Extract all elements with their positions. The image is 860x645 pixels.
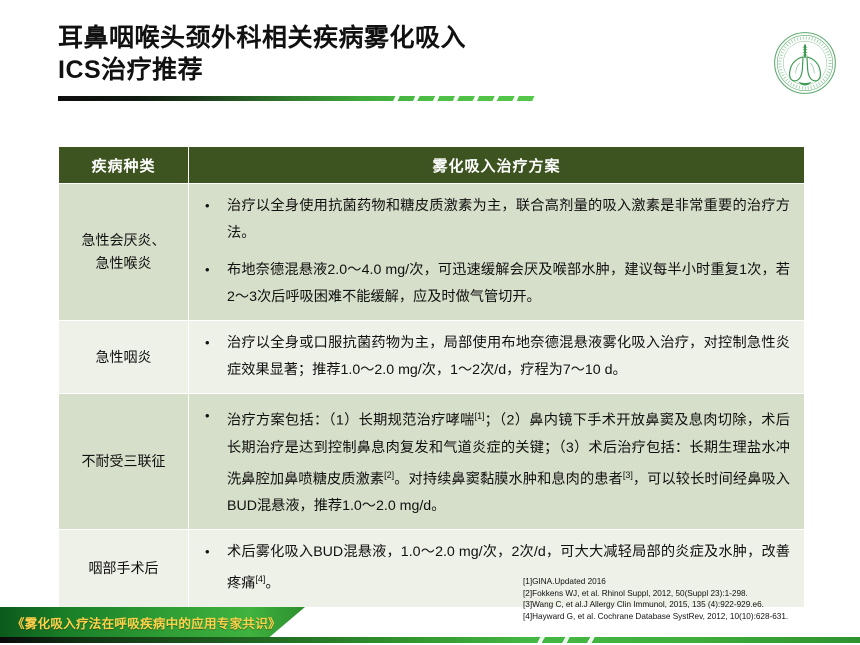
bullet-list: 治疗方案包括：（1）长期规范治疗哮喘[1]；（2）鼻内镜下手术开放鼻窦及息肉切除… bbox=[199, 403, 790, 520]
cell-disease-type: 急性会厌炎、 急性喉炎 bbox=[59, 184, 189, 321]
bullet-item: 治疗方案包括：（1）长期规范治疗哮喘[1]；（2）鼻内镜下手术开放鼻窦及息肉切除… bbox=[199, 403, 790, 520]
slide-root: 耳鼻咽喉头颈外科相关疾病雾化吸入 ICS治疗推荐 bbox=[0, 0, 860, 645]
bullet-item: 治疗以全身使用抗菌药物和糖皮质激素为主，联合高剂量的吸入激素是非常重要的治疗方法… bbox=[199, 193, 790, 247]
table-header-row: 疾病种类 雾化吸入治疗方案 bbox=[59, 147, 805, 184]
cell-disease-type: 急性咽炎 bbox=[59, 321, 189, 394]
cell-disease-type: 咽部手术后 bbox=[59, 530, 189, 608]
hospital-lung-emblem-icon bbox=[772, 30, 838, 96]
footer-accent-strip bbox=[0, 637, 860, 643]
reference-item-4: [4]Hayward G, et al. Cochrane Database S… bbox=[523, 611, 853, 623]
page-title-line-1: 耳鼻咽喉头颈外科相关疾病雾化吸入 bbox=[58, 22, 698, 54]
table-row: 急性咽炎 治疗以全身或口服抗菌药物为主，局部使用布地奈德混悬液雾化吸入治疗，对控… bbox=[59, 321, 805, 394]
footer-accent-strip-slash-decoration bbox=[520, 637, 610, 643]
table-row: 急性会厌炎、 急性喉炎 治疗以全身使用抗菌药物和糖皮质激素为主，联合高剂量的吸入… bbox=[59, 184, 805, 321]
reference-superscript-4: [4] bbox=[255, 574, 265, 584]
title-underline-slash-decoration bbox=[380, 96, 536, 101]
reference-item-1: [1]GINA.Updated 2016 bbox=[523, 576, 853, 588]
bullet-list: 治疗以全身使用抗菌药物和糖皮质激素为主，联合高剂量的吸入激素是非常重要的治疗方法… bbox=[199, 193, 790, 311]
reference-superscript-3: [3] bbox=[623, 470, 633, 480]
disease-type-text-line-1: 急性会厌炎、 bbox=[65, 229, 182, 252]
treatment-table: 疾病种类 雾化吸入治疗方案 急性会厌炎、 急性喉炎 治疗以全身使用抗菌药物和糖皮… bbox=[57, 145, 805, 609]
bullet-item: 布地奈德混悬液2.0～4.0 mg/次，可迅速缓解会厌及喉部水肿，建议每半小时重… bbox=[199, 257, 790, 311]
page-title: 耳鼻咽喉头颈外科相关疾病雾化吸入 ICS治疗推荐 bbox=[58, 22, 698, 86]
bullet-list: 治疗以全身或口服抗菌药物为主，局部使用布地奈德混悬液雾化吸入治疗，对控制急性炎症… bbox=[199, 330, 790, 384]
reference-list: [1]GINA.Updated 2016 [2]Fokkens WJ, et a… bbox=[523, 576, 853, 622]
reference-superscript-2: [2] bbox=[384, 470, 394, 480]
reference-item-2: [2]Fokkens WJ, et al. Rhinol Suppl, 2012… bbox=[523, 588, 853, 600]
footer-banner-label: 《雾化吸入疗法在呼吸疾病中的应用专家共识》 bbox=[0, 613, 281, 632]
bullet-item: 治疗以全身或口服抗菌药物为主，局部使用布地奈德混悬液雾化吸入治疗，对控制急性炎症… bbox=[199, 330, 790, 384]
footer-banner: 《雾化吸入疗法在呼吸疾病中的应用专家共识》 bbox=[0, 607, 305, 638]
disease-type-text-line-2: 急性喉炎 bbox=[65, 252, 182, 275]
reference-item-3: [3]Wang C, et al.J Allergy Clin Immunol,… bbox=[523, 599, 853, 611]
cell-treatment-plan: 治疗以全身使用抗菌药物和糖皮质激素为主，联合高剂量的吸入激素是非常重要的治疗方法… bbox=[189, 184, 805, 321]
cell-treatment-plan: 治疗以全身或口服抗菌药物为主，局部使用布地奈德混悬液雾化吸入治疗，对控制急性炎症… bbox=[189, 321, 805, 394]
table-row: 不耐受三联征 治疗方案包括：（1）长期规范治疗哮喘[1]；（2）鼻内镜下手术开放… bbox=[59, 394, 805, 530]
col-header-treatment-plan: 雾化吸入治疗方案 bbox=[189, 147, 805, 184]
cell-disease-type: 不耐受三联征 bbox=[59, 394, 189, 530]
page-title-line-2: ICS治疗推荐 bbox=[58, 54, 698, 86]
cell-treatment-plan: 治疗方案包括：（1）长期规范治疗哮喘[1]；（2）鼻内镜下手术开放鼻窦及息肉切除… bbox=[189, 394, 805, 530]
col-header-disease-type: 疾病种类 bbox=[59, 147, 189, 184]
reference-superscript-1: [1] bbox=[475, 411, 485, 421]
